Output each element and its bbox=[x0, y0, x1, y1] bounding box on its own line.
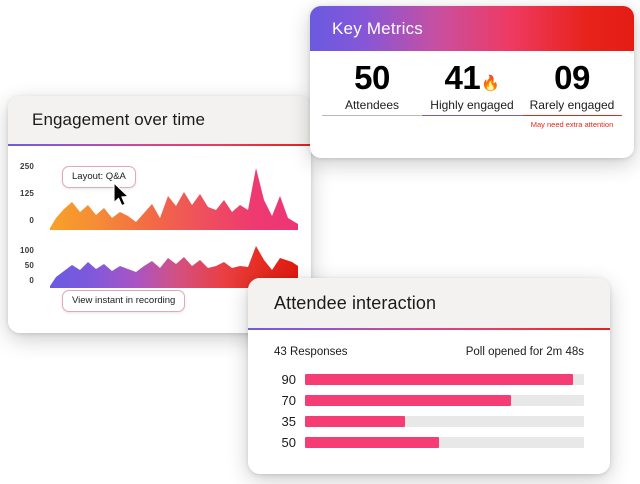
metric-rarely-engaged-value: 09 bbox=[554, 61, 590, 96]
top-chart-ytick-0: 0 bbox=[8, 216, 34, 225]
poll-row-track bbox=[305, 437, 584, 448]
poll-row-label: 90 bbox=[274, 372, 296, 387]
screenshot-canvas: Engagement over time 250 125 0 bbox=[0, 0, 640, 484]
engagement-card-title: Engagement over time bbox=[32, 110, 205, 130]
metric-highly-engaged: 41 🔥 Highly engaged bbox=[422, 61, 522, 116]
metric-attendees: 50 Attendees bbox=[322, 61, 422, 116]
flame-icon: 🔥 bbox=[481, 76, 499, 92]
poll-row[interactable]: 90 bbox=[274, 372, 584, 387]
poll-timer: Poll opened for 2m 48s bbox=[466, 346, 584, 358]
key-metrics-title: Key Metrics bbox=[332, 19, 423, 39]
poll-row-label: 35 bbox=[274, 414, 296, 429]
metric-highly-engaged-label: Highly engaged bbox=[430, 98, 513, 112]
poll-row[interactable]: 70 bbox=[274, 393, 584, 408]
layout-tooltip-pill[interactable]: Layout: Q&A bbox=[62, 166, 136, 188]
metric-attendees-value: 50 bbox=[354, 61, 390, 96]
bottom-chart-ytick-100: 100 bbox=[8, 246, 34, 255]
attendee-card-header: Attendee interaction bbox=[248, 278, 610, 328]
poll-row-track bbox=[305, 395, 584, 406]
metric-attendees-label: Attendees bbox=[345, 98, 399, 112]
bottom-chart-ytick-50: 50 bbox=[8, 261, 34, 270]
poll-row-fill bbox=[305, 374, 573, 385]
poll-row-fill bbox=[305, 437, 439, 448]
metric-highly-engaged-value: 41 🔥 bbox=[445, 61, 500, 96]
metric-rarely-engaged-number: 09 bbox=[554, 61, 590, 96]
metric-highly-engaged-number: 41 bbox=[445, 61, 481, 96]
top-chart-ytick-250: 250 bbox=[8, 162, 34, 171]
responses-count: 43 Responses bbox=[274, 346, 348, 358]
poll-row[interactable]: 35 bbox=[274, 414, 584, 429]
metric-rarely-engaged-label: Rarely engaged bbox=[530, 98, 615, 112]
key-metrics-body: 50 Attendees 41 🔥 Highly engaged 09 Rare… bbox=[310, 51, 634, 158]
top-chart-ytick-125: 125 bbox=[8, 189, 34, 198]
metric-highly-engaged-rule bbox=[422, 115, 522, 117]
view-instant-in-recording-pill[interactable]: View instant in recording bbox=[62, 290, 185, 312]
poll-row-label: 70 bbox=[274, 393, 296, 408]
attendee-interaction-card: Attendee interaction 43 Responses Poll o… bbox=[248, 278, 610, 474]
metric-attendees-rule bbox=[322, 115, 422, 117]
engagement-card-header: Engagement over time bbox=[8, 96, 311, 144]
metric-rarely-engaged: 09 Rarely engaged May need extra attenti… bbox=[522, 61, 622, 129]
poll-row-track bbox=[305, 416, 584, 427]
poll-row-track bbox=[305, 374, 584, 385]
poll-row-label: 50 bbox=[274, 435, 296, 450]
attendee-card-body: 43 Responses Poll opened for 2m 48s 90 7… bbox=[248, 330, 610, 450]
key-metrics-card: Key Metrics 50 Attendees 41 🔥 Highly eng… bbox=[310, 6, 634, 158]
metric-rarely-engaged-rule bbox=[522, 115, 622, 117]
poll-row-fill bbox=[305, 416, 405, 427]
attendee-meta-row: 43 Responses Poll opened for 2m 48s bbox=[274, 346, 584, 358]
poll-row-fill bbox=[305, 395, 511, 406]
attendee-card-title: Attendee interaction bbox=[274, 293, 436, 314]
poll-results-list: 90 70 35 bbox=[274, 372, 584, 450]
key-metrics-header: Key Metrics bbox=[310, 6, 634, 51]
bottom-chart-ytick-0: 0 bbox=[8, 276, 34, 285]
metric-attendees-number: 50 bbox=[354, 61, 390, 96]
metric-rarely-engaged-note: May need extra attention bbox=[531, 120, 614, 129]
poll-row[interactable]: 50 bbox=[274, 435, 584, 450]
